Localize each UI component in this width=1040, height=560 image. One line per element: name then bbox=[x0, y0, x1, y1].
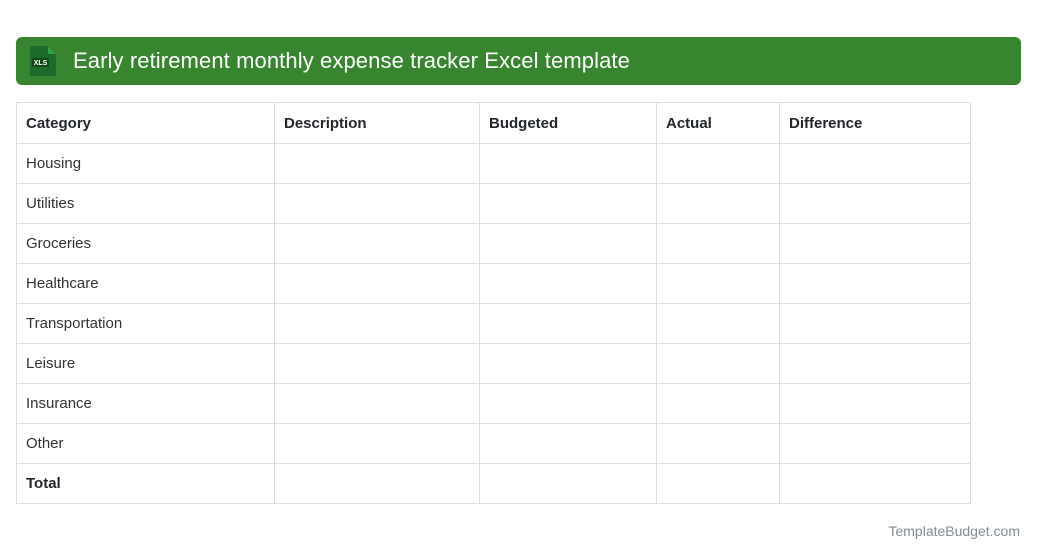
table-body: HousingUtilitiesGroceriesHealthcareTrans… bbox=[17, 144, 971, 504]
column-header-difference: Difference bbox=[780, 103, 971, 144]
xls-icon-label: XLS bbox=[34, 60, 48, 67]
cell-category[interactable]: Other bbox=[17, 424, 275, 464]
cell-category[interactable]: Insurance bbox=[17, 384, 275, 424]
cell-category[interactable]: Healthcare bbox=[17, 264, 275, 304]
table-row: Leisure bbox=[17, 344, 971, 384]
cell-difference[interactable] bbox=[780, 184, 971, 224]
cell-description[interactable] bbox=[275, 184, 480, 224]
cell-category[interactable]: Leisure bbox=[17, 344, 275, 384]
cell-category[interactable]: Transportation bbox=[17, 304, 275, 344]
table-row: Housing bbox=[17, 144, 971, 184]
table-row: Transportation bbox=[17, 304, 971, 344]
cell-actual[interactable] bbox=[657, 144, 780, 184]
cell-category[interactable]: Housing bbox=[17, 144, 275, 184]
table-row: Insurance bbox=[17, 384, 971, 424]
template-title-banner: XLS Early retirement monthly expense tra… bbox=[16, 37, 1021, 85]
cell-description[interactable] bbox=[275, 344, 480, 384]
column-header-description: Description bbox=[275, 103, 480, 144]
cell-budgeted[interactable] bbox=[480, 304, 657, 344]
cell-difference[interactable] bbox=[780, 464, 971, 504]
cell-actual[interactable] bbox=[657, 304, 780, 344]
cell-actual[interactable] bbox=[657, 384, 780, 424]
cell-category[interactable]: Groceries bbox=[17, 224, 275, 264]
cell-difference[interactable] bbox=[780, 344, 971, 384]
cell-budgeted[interactable] bbox=[480, 184, 657, 224]
cell-budgeted[interactable] bbox=[480, 464, 657, 504]
table-row-total: Total bbox=[17, 464, 971, 504]
site-credit: TemplateBudget.com bbox=[888, 523, 1020, 539]
cell-difference[interactable] bbox=[780, 304, 971, 344]
cell-description[interactable] bbox=[275, 384, 480, 424]
cell-actual[interactable] bbox=[657, 464, 780, 504]
cell-actual[interactable] bbox=[657, 184, 780, 224]
cell-actual[interactable] bbox=[657, 224, 780, 264]
cell-budgeted[interactable] bbox=[480, 424, 657, 464]
cell-category[interactable]: Total bbox=[17, 464, 275, 504]
cell-description[interactable] bbox=[275, 224, 480, 264]
cell-actual[interactable] bbox=[657, 264, 780, 304]
expense-tracker-table: Category Description Budgeted Actual Dif… bbox=[16, 102, 971, 504]
column-header-budgeted: Budgeted bbox=[480, 103, 657, 144]
table-row: Other bbox=[17, 424, 971, 464]
cell-budgeted[interactable] bbox=[480, 144, 657, 184]
cell-budgeted[interactable] bbox=[480, 384, 657, 424]
cell-description[interactable] bbox=[275, 304, 480, 344]
cell-difference[interactable] bbox=[780, 264, 971, 304]
page-title: Early retirement monthly expense tracker… bbox=[73, 48, 630, 74]
cell-category[interactable]: Utilities bbox=[17, 184, 275, 224]
cell-actual[interactable] bbox=[657, 424, 780, 464]
table-row: Healthcare bbox=[17, 264, 971, 304]
cell-difference[interactable] bbox=[780, 224, 971, 264]
cell-description[interactable] bbox=[275, 144, 480, 184]
cell-difference[interactable] bbox=[780, 424, 971, 464]
column-header-actual: Actual bbox=[657, 103, 780, 144]
cell-budgeted[interactable] bbox=[480, 224, 657, 264]
cell-budgeted[interactable] bbox=[480, 344, 657, 384]
table-row: Groceries bbox=[17, 224, 971, 264]
cell-description[interactable] bbox=[275, 264, 480, 304]
table-header-row: Category Description Budgeted Actual Dif… bbox=[17, 103, 971, 144]
cell-difference[interactable] bbox=[780, 384, 971, 424]
xls-file-icon: XLS bbox=[29, 45, 57, 77]
column-header-category: Category bbox=[17, 103, 275, 144]
cell-difference[interactable] bbox=[780, 144, 971, 184]
table-row: Utilities bbox=[17, 184, 971, 224]
table-header: Category Description Budgeted Actual Dif… bbox=[17, 103, 971, 144]
cell-description[interactable] bbox=[275, 464, 480, 504]
cell-actual[interactable] bbox=[657, 344, 780, 384]
cell-description[interactable] bbox=[275, 424, 480, 464]
cell-budgeted[interactable] bbox=[480, 264, 657, 304]
